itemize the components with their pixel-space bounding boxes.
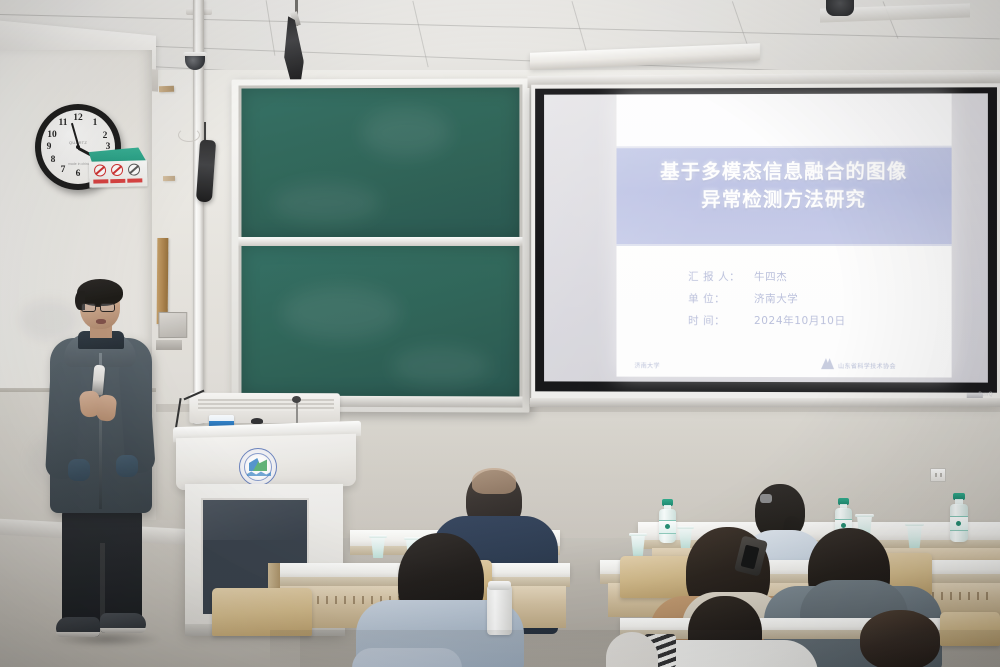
slide-top-blank	[616, 93, 951, 147]
blackboard-mid-rail	[238, 237, 522, 246]
slide-meta-value: 2024年10月10日	[754, 310, 846, 332]
clock-number: 6	[72, 169, 84, 179]
slide-meta-row: 单 位： 济南大学	[688, 288, 928, 310]
screen-bottom-rail	[530, 398, 1000, 407]
glasses-icon	[100, 303, 115, 312]
slide-footer-logo-left: 济南大学	[634, 361, 659, 370]
podium-gooseneck-mic-head	[292, 396, 301, 403]
paper-cup-rim	[855, 514, 874, 517]
clock-number: 12	[72, 113, 84, 123]
clock-number: 8	[47, 155, 59, 165]
slide-meta-key: 时 间：	[688, 310, 754, 332]
slide-footer: 济南大学 山东省科学技术协会	[616, 355, 951, 378]
presenter-shoe-left	[56, 617, 100, 637]
paper-cup-rim	[905, 523, 924, 526]
podium-screen-glare	[203, 500, 307, 540]
cable-loop	[178, 128, 200, 142]
bottle-label-mark	[956, 521, 961, 526]
presenter-hand-right	[96, 394, 118, 422]
thermos-bottle	[487, 585, 512, 635]
clock-number: 1	[89, 118, 101, 128]
presenter-cuff-right	[116, 455, 138, 477]
presenter-shoe-right	[100, 613, 146, 633]
no-fire-icon	[111, 164, 124, 177]
sign-body	[89, 160, 148, 188]
paper-cup-rim	[369, 535, 387, 538]
clock-number: 10	[46, 130, 58, 140]
presentation-slide: 基于多模态信息融合的图像 异常检测方法研究 汇 报 人： 牛四杰 单 位： 济南…	[616, 93, 951, 377]
slide-footer-logo-mark	[821, 358, 834, 369]
presenter-cuff-left	[68, 459, 90, 481]
glasses-bridge	[95, 306, 101, 307]
clock-number: 9	[43, 142, 55, 152]
chair-back	[212, 588, 312, 636]
hair-clip	[760, 494, 772, 503]
screen-surface: 基于多模态信息融合的图像 异常检测方法研究 汇 报 人： 牛四杰 单 位： 济南…	[544, 93, 988, 382]
slide-footer-logo-right: 山东省科学技术协会	[838, 361, 896, 370]
slide-title-line-2: 异常检测方法研究	[616, 186, 951, 214]
clock-sub-text: made in china	[68, 162, 90, 166]
bottle-label-mark	[665, 524, 670, 529]
blackboard	[232, 78, 530, 412]
slide-meta-key: 汇 报 人：	[688, 266, 754, 288]
notice-sign	[88, 147, 147, 189]
wood-strip	[163, 176, 175, 181]
wall-power-outlet[interactable]	[930, 468, 946, 482]
screen-brand-label: BenQ	[978, 392, 993, 398]
slide-meta-key: 单 位：	[688, 288, 754, 310]
slide-title: 基于多模态信息融合的图像 异常检测方法研究	[616, 158, 951, 214]
paper-cup-rim	[629, 533, 647, 536]
desk-shadow	[270, 630, 1000, 667]
glasses-icon	[81, 303, 96, 312]
blackboard-panel-lower	[241, 246, 519, 396]
ceiling-speaker	[826, 0, 854, 16]
paper-cup-rim	[677, 526, 694, 529]
slide-metadata: 汇 报 人： 牛四杰 单 位： 济南大学 时 间： 2024年10月10日	[688, 266, 928, 332]
clock-center-pin	[76, 145, 80, 149]
slide-meta-value: 济南大学	[754, 288, 798, 310]
no-smoking-icon	[94, 164, 107, 177]
electrical-box	[158, 312, 187, 338]
warning-icon	[128, 163, 141, 176]
slide-meta-row: 时 间： 2024年10月10日	[688, 310, 928, 332]
wall-air-vent-louvers	[198, 399, 334, 411]
slide-meta-value: 牛四杰	[754, 266, 787, 288]
slide-divider	[616, 244, 951, 246]
university-emblem	[239, 448, 277, 486]
wood-strip	[159, 86, 174, 93]
small-object-on-podium	[251, 418, 263, 424]
clock-number: 11	[57, 118, 69, 128]
thermos-cap	[488, 581, 511, 590]
blackboard-panel-upper	[241, 87, 519, 238]
electrical-box-base	[156, 340, 182, 350]
slide-title-line-1: 基于多模态信息融合的图像	[616, 158, 951, 186]
projection-screen: 基于多模态信息融合的图像 异常检测方法研究 汇 报 人： 牛四杰 单 位： 济南…	[531, 83, 1000, 400]
presenter-mouth	[96, 319, 106, 324]
clock-number: 7	[57, 165, 69, 175]
lecture-hall-photo: 12 1 2 3 4 5 6 7 8 9 10 11 QUARTZ made i…	[0, 0, 1000, 667]
audience-scalp	[472, 468, 516, 494]
slide-meta-row: 汇 报 人： 牛四杰	[688, 266, 928, 288]
presenter	[38, 283, 158, 643]
clock-number: 2	[99, 131, 111, 141]
